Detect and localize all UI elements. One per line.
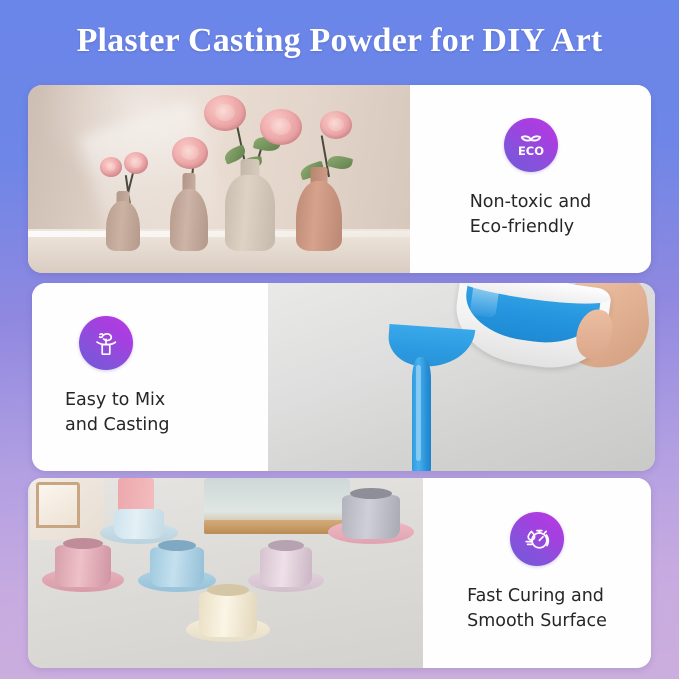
shelf-surface	[28, 229, 410, 273]
feature-card-mix: Easy to Mix and Casting	[32, 283, 655, 471]
ceramic-vase	[106, 193, 140, 251]
candle-holder-cream	[186, 582, 270, 642]
feature-text-eco: Non-toxic and Eco-friendly	[470, 190, 592, 240]
feature-panel-eco: ECO Non-toxic and Eco-friendly	[410, 85, 651, 273]
rose-bloom	[260, 109, 302, 145]
ceramic-vase	[225, 159, 275, 251]
blue-liquid-pouring-photo	[268, 283, 655, 471]
pour-lip	[387, 324, 476, 370]
pouring-mix-icon	[79, 316, 133, 370]
eco-leaf-icon: ECO	[504, 118, 558, 172]
eco-badge-label: ECO	[517, 144, 543, 158]
feature-panel-mix: Easy to Mix and Casting	[32, 283, 268, 471]
feature-card-eco: ECO Non-toxic and Eco-friendly	[28, 85, 651, 273]
candle-holder-pink	[42, 536, 124, 592]
page-title: Plaster Casting Powder for DIY Art	[0, 22, 679, 60]
rose-bloom	[100, 157, 122, 177]
background-photo-frame	[36, 482, 80, 528]
pastel-candle-holders-photo	[28, 478, 423, 668]
rose-bloom	[172, 137, 208, 169]
ceramic-vase	[296, 169, 342, 251]
rose-bloom	[124, 152, 148, 174]
rose-bloom	[204, 95, 246, 131]
feature-text-mix: Easy to Mix and Casting	[65, 388, 169, 438]
blue-pour-stream	[412, 357, 431, 471]
pink-roses-in-ceramic-vases-photo	[28, 85, 410, 273]
feature-text-cure: Fast Curing and Smooth Surface	[467, 584, 607, 634]
candle-holder-grey-back	[328, 486, 414, 544]
rose-bloom	[320, 111, 352, 139]
feature-panel-cure: Fast Curing and Smooth Surface	[423, 478, 651, 668]
ceramic-vase	[170, 175, 208, 251]
stopwatch-droplet-icon	[510, 512, 564, 566]
feature-card-cure: Fast Curing and Smooth Surface	[28, 478, 651, 668]
